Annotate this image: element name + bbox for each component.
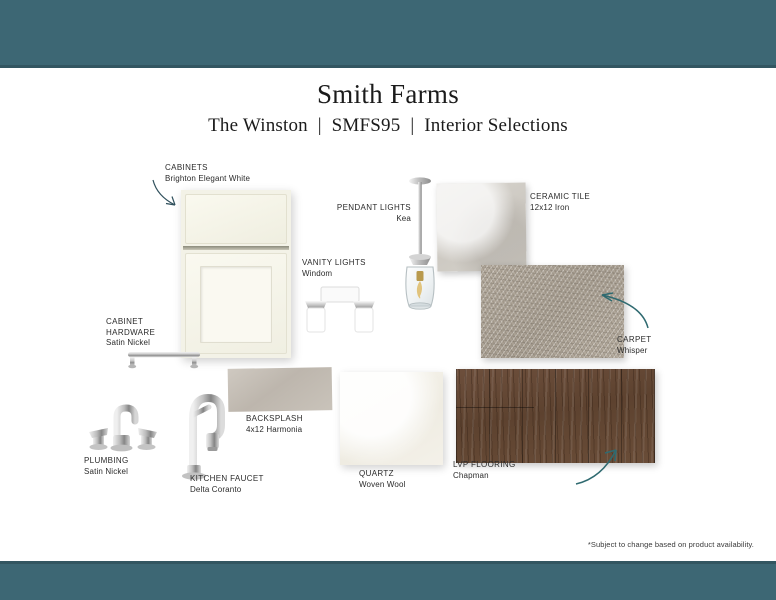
quartz-swatch xyxy=(340,372,443,465)
caption-plumbing-value: Satin Nickel xyxy=(84,467,129,478)
caption-ceramic-tile-label: CERAMIC TILE xyxy=(530,192,590,203)
caption-cabinets: CABINETS Brighton Elegant White xyxy=(165,163,250,184)
caption-backsplash-value: 4x12 Harmonia xyxy=(246,425,303,436)
caption-plumbing-label: PLUMBING xyxy=(84,456,129,467)
lvp-flooring-swatch xyxy=(456,369,655,463)
caption-vanity-lights-label: VANITY LIGHTS xyxy=(302,258,366,269)
caption-cabinet-hardware-label-line2: HARDWARE xyxy=(106,328,155,339)
caption-plumbing: PLUMBING Satin Nickel xyxy=(84,456,129,477)
backsplash-swatch xyxy=(228,367,333,412)
caption-cabinet-hardware-label-line1: CABINET xyxy=(106,317,155,328)
caption-lvp-flooring-value: Chapman xyxy=(453,471,516,482)
caption-quartz-label: QUARTZ xyxy=(359,469,406,480)
caption-ceramic-tile: CERAMIC TILE 12x12 Iron xyxy=(530,192,590,213)
caption-quartz-value: Woven Wool xyxy=(359,480,406,491)
page-subtitle: The Winston | SMFS95 | Interior Selectio… xyxy=(0,115,776,137)
cabinet-drawer-front xyxy=(185,194,287,244)
caption-pendant-lights: PENDANT LIGHTS Kea xyxy=(281,203,411,224)
cabinet-door-front xyxy=(185,253,287,354)
cabinet-door-recessed-panel xyxy=(200,266,272,343)
top-band-shade xyxy=(0,65,776,68)
caption-backsplash-label: BACKSPLASH xyxy=(246,414,303,425)
bottom-banner-band xyxy=(0,561,776,600)
pendant-light-fixture-image xyxy=(396,175,444,325)
caption-cabinets-label: CABINETS xyxy=(165,163,250,174)
caption-kitchen-faucet-label: KITCHEN FAUCET xyxy=(190,474,264,485)
title-block: Smith Farms The Winston | SMFS95 | Inter… xyxy=(0,80,776,137)
caption-quartz: QUARTZ Woven Wool xyxy=(359,469,406,490)
caption-carpet: CARPET Whisper xyxy=(617,335,652,356)
selection-board: Smith Farms The Winston | SMFS95 | Inter… xyxy=(0,0,776,600)
ceramic-tile-swatch xyxy=(437,183,527,272)
caption-pendant-lights-label: PENDANT LIGHTS xyxy=(281,203,411,214)
caption-vanity-lights: VANITY LIGHTS Windom xyxy=(302,258,366,279)
caption-pendant-lights-value: Kea xyxy=(281,214,411,225)
caption-lvp-flooring: LVP FLOORING Chapman xyxy=(453,460,516,481)
caption-carpet-value: Whisper xyxy=(617,346,652,357)
cabinet-swatch xyxy=(181,190,291,358)
caption-cabinets-value: Brighton Elegant White xyxy=(165,174,250,185)
caption-kitchen-faucet: KITCHEN FAUCET Delta Coranto xyxy=(190,474,264,495)
bath-faucet-image xyxy=(83,395,169,457)
vanity-light-fixture-image xyxy=(297,283,383,338)
top-banner-band xyxy=(0,0,776,68)
cabinet-reveal-gap xyxy=(183,246,289,250)
caption-vanity-lights-value: Windom xyxy=(302,269,366,280)
caption-cabinet-hardware-value: Satin Nickel xyxy=(106,338,155,349)
caption-cabinet-hardware: CABINET HARDWARE Satin Nickel xyxy=(106,317,155,349)
kitchen-faucet-image xyxy=(171,385,233,483)
caption-carpet-label: CARPET xyxy=(617,335,652,346)
bottom-band-shade xyxy=(0,561,776,564)
carpet-swatch xyxy=(481,265,624,358)
page-title: Smith Farms xyxy=(0,80,776,108)
caption-lvp-flooring-label: LVP FLOORING xyxy=(453,460,516,471)
lvp-plank-seam xyxy=(456,407,534,408)
caption-ceramic-tile-value: 12x12 Iron xyxy=(530,203,590,214)
disclaimer-footnote: *Subject to change based on product avai… xyxy=(588,540,754,549)
caption-kitchen-faucet-value: Delta Coranto xyxy=(190,485,264,496)
caption-backsplash: BACKSPLASH 4x12 Harmonia xyxy=(246,414,303,435)
cabinet-hardware-bar-pull-image xyxy=(120,345,206,371)
